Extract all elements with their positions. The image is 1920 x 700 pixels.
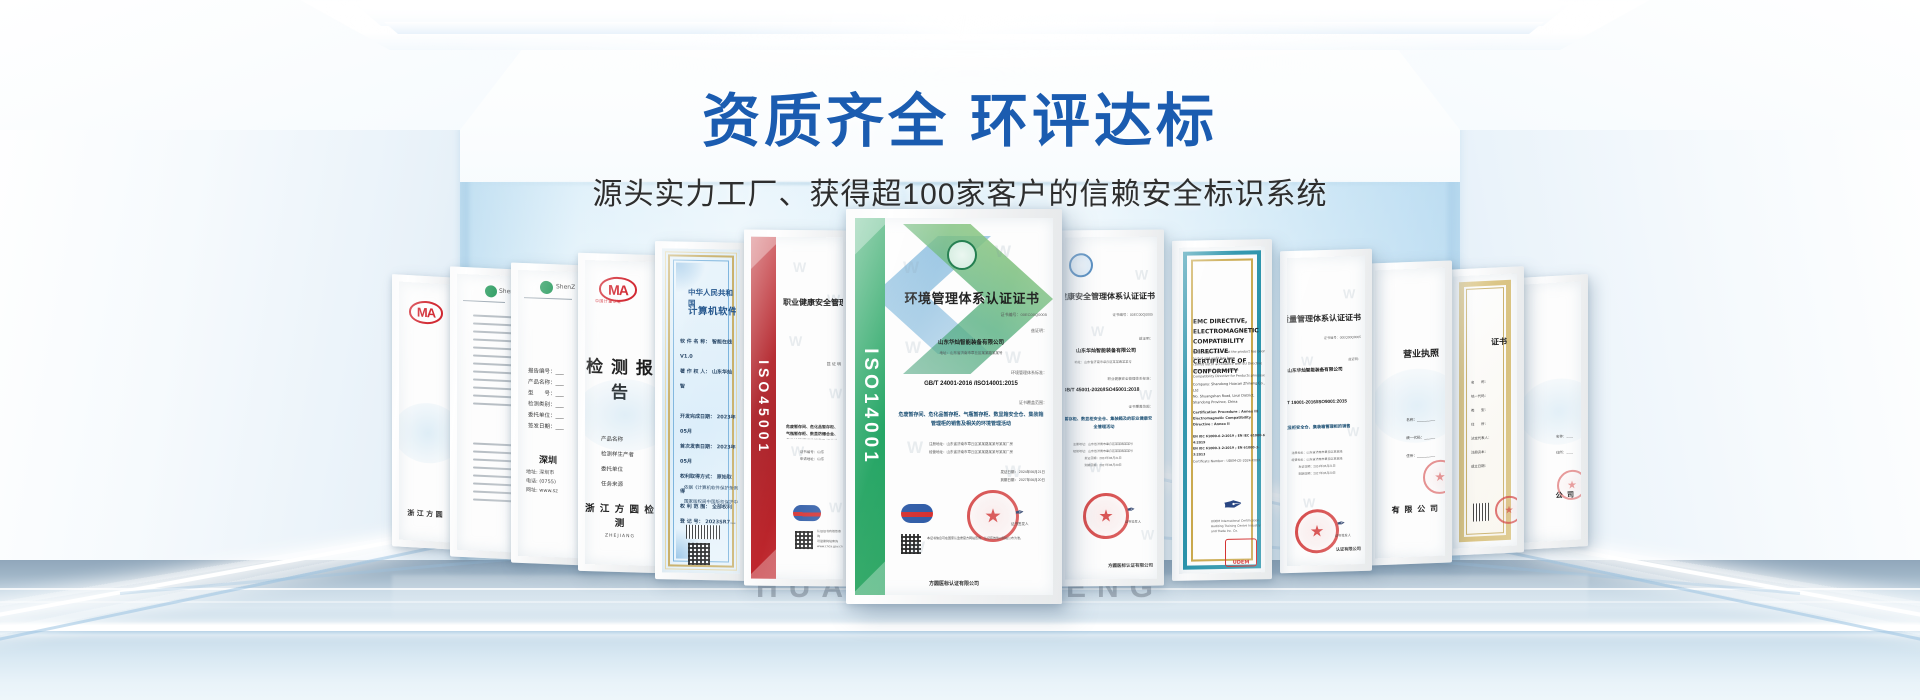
certificate-frame[interactable]: ISO45001 W W W W W W 职业健康安全管理体系认证证书 兹 证 …: [744, 230, 850, 587]
cert-standard: GB/T 24001-2016 /ISO14001:2015: [895, 381, 1047, 387]
cert-issuer: 公 司: [1523, 490, 1575, 503]
cert-watermark-letter: W: [1343, 286, 1355, 301]
cert-watermark-letter: W: [907, 438, 923, 458]
cert-field-rows-2: [473, 442, 511, 508]
banner-stage: MA 浙 江 方 圆 ShenZ: [0, 0, 1920, 700]
signature-mark: ✒: [1336, 518, 1346, 530]
cnas-accreditation-icon: [947, 240, 977, 270]
certificate-frame[interactable]: EMC DIRECTIVE,ELECTROMAGNETIC COMPATIBIL…: [1172, 239, 1272, 581]
iso14001-side-band: ISO14001: [855, 218, 885, 595]
cma-logo-icon: MA: [409, 300, 443, 325]
certificate-frame[interactable]: ShenZ: [450, 266, 518, 559]
cert-standard-label: 职业健康安全管理体系标准：: [1071, 377, 1153, 383]
cert-lab-name: ShenZ: [556, 283, 575, 291]
cert-qr-code: [795, 531, 813, 549]
cert-rule: [524, 297, 572, 300]
certificate-paper: MA 浙 江 方 圆: [399, 282, 451, 543]
cert-company: Company: Shandong Huacan Zhineng Co., Lt…: [1193, 380, 1265, 405]
cert-scope-label: 证书覆盖范围：: [1071, 405, 1153, 411]
certificate-paper: 中华人民共和国 计算机软件著作权登记证书 软 件 名 称： 智能在线V1.0 著…: [662, 248, 740, 573]
cert-issuer: 方圆医标认证有限公司: [1065, 563, 1153, 570]
lab-logo-icon: [485, 285, 497, 298]
expiry-value: 2027年06月20日: [1019, 478, 1045, 482]
cert-number: 证书编号：00EQ00Q0005: [1291, 334, 1361, 341]
cert-fields: 名称：__________统一代码：______住所：__________: [1379, 410, 1435, 466]
cert-standards: EN IEC 61000-6-2:2019 ; EN IEC 61000-6-4…: [1193, 432, 1265, 457]
iso45001-side-band: ISO45001: [751, 237, 776, 579]
cert-scope: 气瓶暂存柜、数显柜安全仓、集装箱及的职业健康安全管理活动: [1065, 415, 1153, 432]
cert-address: 地址：山东省济南市章丘区某某路某某号: [1065, 359, 1153, 365]
cert-watermark-letter: W: [1005, 462, 1021, 482]
cert-title-text: 营业执照: [1375, 346, 1439, 363]
cert-footer: 地址: 深圳市电话: (0755)网址: www.sz: [526, 468, 558, 496]
certificate-frame-featured[interactable]: 环境管理体系认证证书 证书编号：00EC00Q0005 兹证明： 山东华灿智能装…: [846, 209, 1062, 604]
cert-issuer: 国家版权局中国版权保护中心: [684, 499, 738, 506]
cert-watermark-letter: W: [829, 385, 842, 401]
official-seal-icon: [967, 490, 1019, 542]
signature-mark: ✒: [1014, 505, 1025, 519]
cert-company: 山东华灿智能装备有限公司: [1065, 347, 1153, 355]
cert-scope-label: 证书覆盖范围：: [895, 400, 1047, 406]
cert-watermark-letter: W: [1139, 387, 1152, 403]
cert-watermark-letter: W: [905, 338, 921, 358]
cert-qr-code: [688, 543, 710, 565]
cert-watermark-letter: W: [1141, 527, 1154, 543]
cert-title-text: 职业健康安全管理体系认证证书: [783, 297, 843, 309]
cnas-logo-icon: [901, 504, 933, 523]
cnas-accreditation-icon: [1069, 253, 1093, 277]
cert-barcode: [1473, 503, 1489, 522]
cert-issue-date: 发证日期： 2024年06月21日 到期日期： 2027年06月20日: [895, 468, 1045, 484]
cert-title-text: 职业健康安全管理体系认证证书: [1065, 291, 1155, 303]
cert-scope: 危废暂存间、危化品暂存柜、气瓶暂存柜、数显防爆合金、集装箱管理柜的销售及相关的职…: [785, 423, 839, 439]
cert-scope: 危废暂存间、危化品暂存柜、气瓶暂存柜、数显箱安全仓、集装箱管理柜的销售及相关的环…: [897, 411, 1045, 429]
cert-org-text: 浙 江 方 圆: [403, 508, 447, 520]
cert-issuer: UDEM International CertificationAuditing…: [1211, 518, 1265, 534]
udem-logo-icon: UDEM: [1225, 538, 1257, 567]
cert-watermark-letter: W: [1301, 353, 1313, 368]
cert-watermark-letter: W: [793, 259, 806, 275]
cert-fields: 产品名称检测样生产者委托单位任务来源: [601, 432, 634, 493]
iso45001-band-label: ISO45001: [756, 360, 772, 455]
cert-barcode: [686, 525, 720, 540]
cert-watermark-letter: W: [1089, 459, 1102, 475]
cert-watermark-letter: W: [995, 242, 1011, 262]
certificate-paper: 质量管理体系认证证书 证书编号：00EQ00Q0005 兹证明： 山东华灿智能装…: [1287, 256, 1365, 566]
cert-watermark-letter: W: [1347, 424, 1359, 439]
cert-standard: GB/T 19001-2016/ISO9001:2015: [1287, 398, 1361, 406]
cert-watermark-letter: W: [1303, 495, 1315, 510]
cert-signer-label: 证书签发人: [1011, 522, 1029, 527]
cert-company-label: 兹证明：: [1071, 337, 1153, 343]
cert-footer: 依据《计算机软件保护条例》: [684, 485, 738, 492]
certificate-paper: MA 中国计量认证 检 测 报 告 产品名称检测样生产者委托单位任务来源 浙 江…: [585, 260, 655, 566]
cert-field-rows: [473, 314, 511, 412]
certificate-frame[interactable]: ShenZ 报告编号：___产品名称：___型 号：___检测类别：___委托单…: [511, 263, 585, 566]
cert-watermark-letter: W: [789, 333, 802, 349]
cert-company: 山东华灿智能装备有限公司: [1287, 366, 1361, 375]
certificate-paper: ISO45001 W W W W W W 职业健康安全管理体系认证证书 兹 证 …: [751, 237, 843, 580]
cert-issuer-note: 认证证书有效性查询可登录网站查询www.cnca.gov.cn: [817, 529, 843, 549]
banner-headline-block: 资质齐全 环评达标 源头实力工厂、获得超100家客户的信赖安全标识系统: [0, 0, 1920, 213]
cert-issuer-note: 本证书信息可在国家认监委官方网站查询，认证有效性以网站公布为准。: [927, 536, 1045, 541]
cert-sub-note: 证书编号：山东申请地址：山东: [785, 449, 839, 463]
certificate-frame[interactable]: MA 中国计量认证 检 测 报 告 产品名称检测样生产者委托单位任务来源 浙 江…: [578, 253, 662, 573]
certificate-frame[interactable]: 营业执照 名称：__________统一代码：______住所：________…: [1368, 260, 1452, 565]
cert-number: 证书编号：00EC00Q0005: [1071, 313, 1153, 319]
cert-org-text: 深圳: [518, 452, 578, 467]
lab-logo-icon: [540, 281, 553, 294]
iso14001-band-label: ISO14001: [859, 348, 881, 466]
official-seal-icon: [1495, 495, 1517, 524]
page-title: 资质齐全 环评达标: [0, 92, 1920, 153]
certificate-frame[interactable]: 中华人民共和国 计算机软件著作权登记证书 软 件 名 称： 智能在线V1.0 著…: [655, 241, 747, 581]
cert-signer-label: 证书签发人: [1335, 532, 1351, 537]
cert-watermark-letter: W: [909, 538, 925, 558]
certificate-paper: 职业健康安全管理体系认证证书 证书编号：00EC00Q0005 兹证明： 山东华…: [1065, 237, 1157, 580]
certificate-paper: 环境管理体系认证证书 证书编号：00EC00Q0005 兹证明： 山东华灿智能装…: [855, 218, 1053, 595]
cert-issuer: 有 限 公 司: [1375, 503, 1439, 516]
cert-watermark-blob: [399, 401, 451, 465]
cert-title-text: 环境管理体系认证证书: [895, 288, 1049, 307]
signature-mark: ✒: [1126, 504, 1136, 516]
cert-rule: [463, 300, 505, 303]
official-seal-icon: [1083, 493, 1129, 539]
certificate-frame[interactable]: 职业健康安全管理体系认证证书 证书编号：00EC00Q0005 兹证明： 山东华…: [1058, 230, 1164, 587]
cert-org-text: 浙 江 方 圆 检 测: [585, 500, 655, 530]
certificate-paper: 营业执照 名称：__________统一代码：______住所：________…: [1375, 268, 1445, 559]
certificate-frame[interactable]: 质量管理体系认证证书 证书编号：00EQ00Q0005 兹证明： 山东华灿智能装…: [1280, 249, 1372, 574]
cert-company: 兹 证 明: [785, 361, 841, 367]
certificate-paper: ShenZ: [457, 274, 511, 553]
cert-title-text: ShenZ: [499, 288, 511, 296]
cert-watermark-letter: W: [1091, 323, 1104, 339]
cert-issuer: 认证有限公司: [1287, 546, 1361, 554]
issue-value: 2024年06月21日: [1019, 470, 1045, 474]
page-subtitle: 源头实力工厂、获得超100家客户的信赖安全标识系统: [0, 169, 1920, 213]
cert-title-text: 计算机软件著作权登记证书: [688, 303, 736, 318]
cma-logo-caption: 中国计量认证: [595, 298, 621, 305]
cert-fields: 报告编号：___产品名称：___型 号：___检测类别：___委托单位：___签…: [528, 366, 564, 433]
certificate-frame[interactable]: 证书 名 称：统一代码：类 型：住 所：法定代表人：注册资本：成立日期：: [1446, 266, 1524, 556]
cert-org-text-en: ZHEJIANG: [585, 533, 655, 540]
certificate-paper: ShenZ 报告编号：___产品名称：___型 号：___检测类别：___委托单…: [518, 270, 578, 558]
certificate-paper: 证书 名 称：统一代码：类 型：住 所：法定代表人：注册资本：成立日期：: [1453, 273, 1517, 548]
certificate-frame[interactable]: 名称：____住所：____ 公 司: [1516, 274, 1588, 550]
cert-watermark-letter: W: [829, 499, 842, 515]
cert-body-text: We hereby declare that the product has b…: [1193, 348, 1265, 379]
signature-mark: ✒: [1222, 490, 1245, 520]
cert-title-text: 质量管理体系认证证书: [1287, 312, 1361, 326]
certificate-frame[interactable]: MA 浙 江 方 圆: [392, 274, 458, 550]
cert-standard-label: 环境管理体系标准：: [895, 370, 1047, 376]
cert-sub-note: 注册地址：山东省济南市章丘区某某路某某号 经营地址：山东省济南市章丘区某某路某某…: [1065, 441, 1153, 470]
cert-watermark-letter: W: [1135, 267, 1148, 283]
cnas-logo-icon: [793, 505, 821, 521]
certificate-paper: EMC DIRECTIVE,ELECTROMAGNETIC COMPATIBIL…: [1179, 246, 1265, 574]
cert-fields: 名 称：统一代码：类 型：住 所：法定代表人：注册资本：成立日期：: [1471, 374, 1501, 473]
cert-annex: Certification Procedure : Annex III Elec…: [1193, 408, 1265, 427]
cert-watermark-letter: W: [1005, 348, 1021, 368]
cert-signer-label: 证书签发人: [1125, 519, 1141, 524]
official-seal-icon: [1423, 459, 1445, 494]
cert-company-label: 兹证明：: [895, 328, 1047, 334]
cert-number: 证书编号：00EC00Q0005: [895, 312, 1047, 318]
cert-watermark-letter: W: [903, 258, 919, 278]
certificate-paper: 名称：____住所：____ 公 司: [1523, 281, 1581, 542]
cert-sub-note: 注册地址：山东省济南市章丘区某某路 经营地址：山东省济南市章丘区某某路 发证日期…: [1287, 448, 1361, 479]
cert-fields: 名称：____住所：____: [1525, 428, 1573, 463]
